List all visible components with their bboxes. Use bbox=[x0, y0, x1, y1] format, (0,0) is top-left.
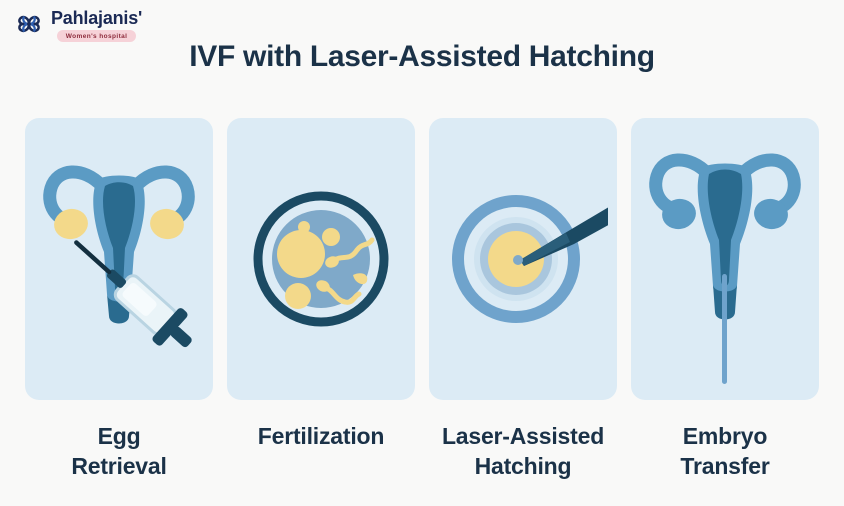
steps-row: Egg Retrieval bbox=[25, 118, 819, 481]
step-card-egg-retrieval bbox=[25, 118, 213, 400]
brand-logo: Pahlajanis' Women's hospital bbox=[14, 8, 142, 42]
step-embryo-transfer: Embryo Transfer bbox=[631, 118, 819, 481]
step-label-line-2: Retrieval bbox=[71, 451, 166, 481]
step-card-embryo-transfer bbox=[631, 118, 819, 400]
petri-dish-egg-sperm-icon bbox=[241, 144, 401, 374]
step-label-line-1: Fertilization bbox=[258, 421, 384, 451]
brand-name: Pahlajanis' bbox=[51, 8, 142, 28]
step-label-line-1: Embryo bbox=[680, 421, 769, 451]
step-label-embryo-transfer: Embryo Transfer bbox=[680, 421, 769, 481]
embryo-with-laser-needle-icon bbox=[438, 144, 608, 374]
step-label-laser-assisted-hatching: Laser-Assisted Hatching bbox=[442, 421, 604, 481]
flower-loops-logo-icon bbox=[14, 9, 44, 39]
step-fertilization: Fertilization bbox=[227, 118, 415, 481]
step-label-fertilization: Fertilization bbox=[258, 421, 384, 451]
step-laser-assisted-hatching: Laser-Assisted Hatching bbox=[429, 118, 617, 481]
step-label-egg-retrieval: Egg Retrieval bbox=[71, 421, 166, 481]
step-label-line-2: Hatching bbox=[442, 451, 604, 481]
uterus-with-syringe-icon bbox=[39, 144, 199, 374]
step-egg-retrieval: Egg Retrieval bbox=[25, 118, 213, 481]
step-card-fertilization bbox=[227, 118, 415, 400]
page-title: IVF with Laser-Assisted Hatching bbox=[0, 40, 844, 74]
uterus-with-catheter-icon bbox=[645, 134, 805, 384]
step-card-laser-assisted-hatching bbox=[429, 118, 617, 400]
step-label-line-1: Laser-Assisted bbox=[442, 421, 604, 451]
step-label-line-1: Egg bbox=[71, 421, 166, 451]
step-label-line-2: Transfer bbox=[680, 451, 769, 481]
